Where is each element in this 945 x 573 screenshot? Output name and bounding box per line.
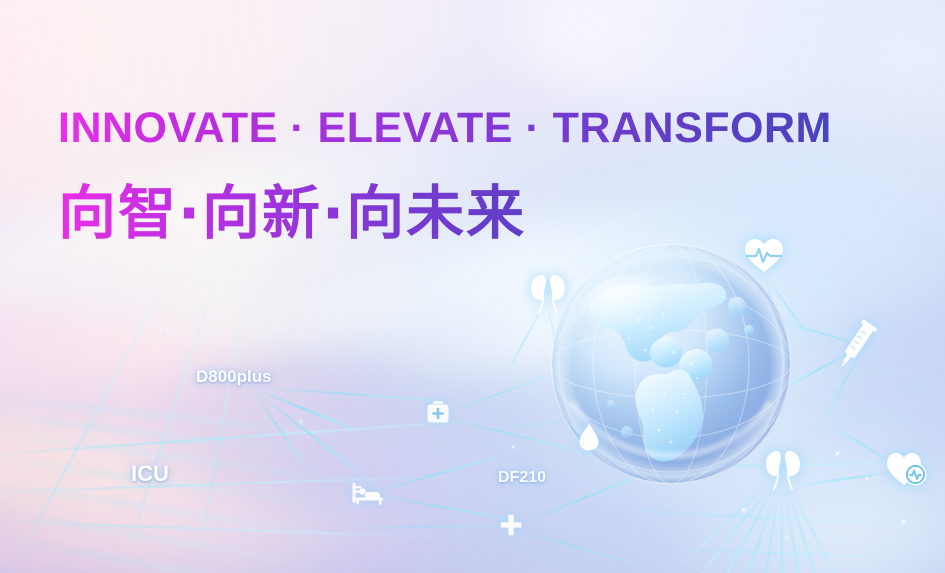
hospital-bed-icon xyxy=(352,481,386,505)
kidneys-icon xyxy=(525,272,571,316)
page-subtitle: 向智·向新·向未来 xyxy=(58,166,526,250)
label-icu: ICU xyxy=(131,461,169,487)
medical-cross-icon xyxy=(500,514,522,536)
kidneys-icon xyxy=(760,448,806,492)
hero-banner: INNOVATE · ELEVATE · TRANSFORM 向智·向新·向未来… xyxy=(0,0,945,573)
syringe-icon xyxy=(833,316,880,371)
label-df210: DF210 xyxy=(498,469,546,487)
heart-monitor-icon xyxy=(886,450,928,488)
label-d800plus: D800plus xyxy=(196,367,272,387)
blood-drop-icon xyxy=(578,423,600,451)
medical-bag-icon xyxy=(426,401,450,424)
heart-pulse-icon xyxy=(744,238,784,274)
page-title: INNOVATE · ELEVATE · TRANSFORM xyxy=(58,104,832,153)
